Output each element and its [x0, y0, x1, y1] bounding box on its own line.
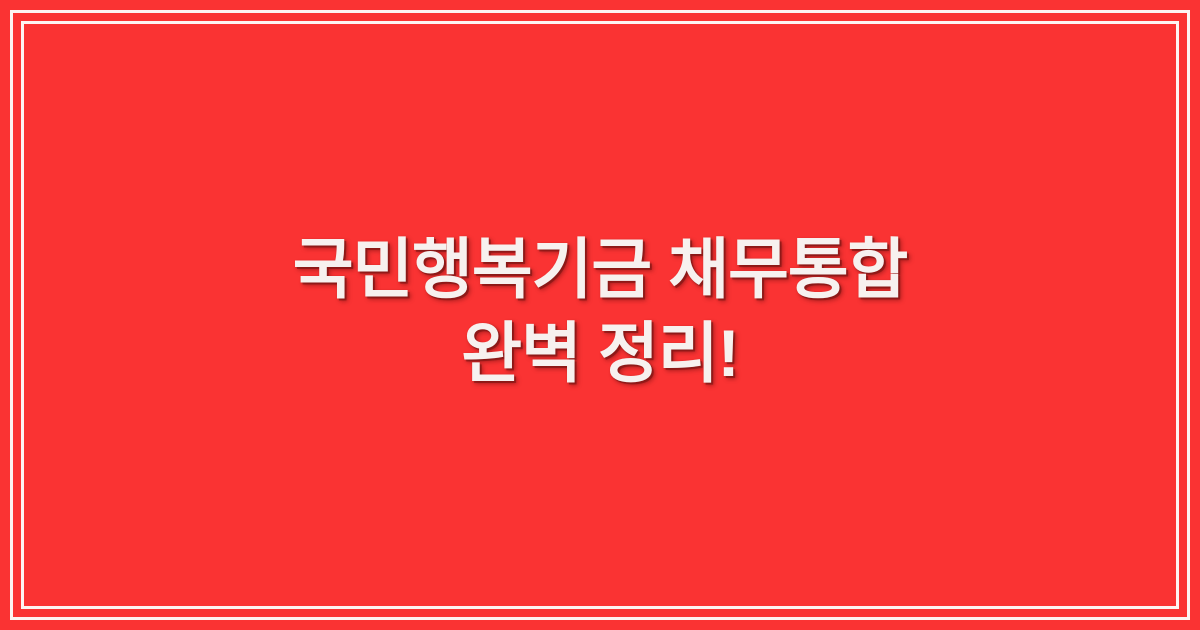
thumbnail-card: 국민행복기금 채무통합 완벽 정리!	[0, 0, 1200, 630]
headline-block: 국민행복기금 채무통합 완벽 정리!	[0, 0, 1200, 630]
headline-line-2: 완벽 정리!	[0, 311, 1200, 395]
headline-line-1: 국민행복기금 채무통합	[0, 227, 1200, 311]
